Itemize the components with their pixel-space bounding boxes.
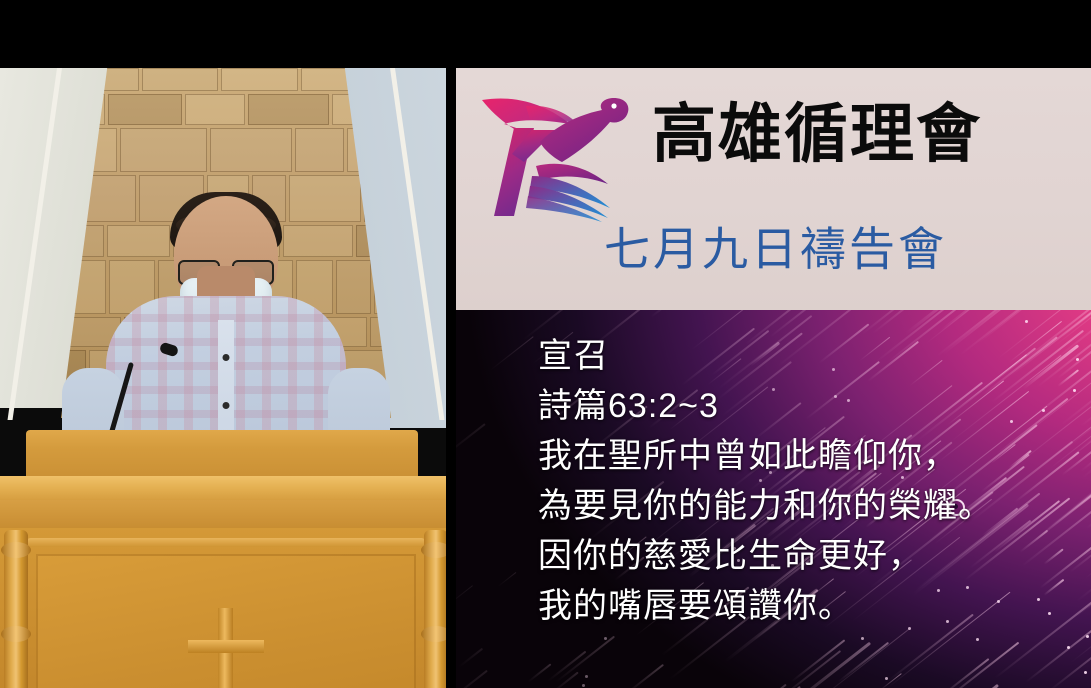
church-logo <box>474 84 644 224</box>
scripture-line-2: 為要見你的能力和你的榮耀。 <box>538 482 1038 532</box>
church-name-title: 高雄循理會 <box>652 102 982 166</box>
slide-header: 高雄循理會 七月九日禱告會 <box>456 68 1091 310</box>
event-name-subtitle: 七月九日禱告會 <box>604 226 947 272</box>
letterbox-top-bar <box>0 0 1091 68</box>
cross-icon-crossbar <box>188 640 264 653</box>
scripture-line-1: 我在聖所中曾如此瞻仰你， <box>538 432 1038 482</box>
scripture-text-block: 宣召 詩篇63:2~3 我在聖所中曾如此瞻仰你， 為要見你的能力和你的榮耀。 因… <box>538 332 1038 632</box>
pulpit-rail <box>0 500 452 530</box>
slide-section-label: 宣召 <box>538 332 1038 382</box>
video-feed-pane[interactable] <box>0 68 452 688</box>
scripture-reference: 詩篇63:2~3 <box>538 382 1038 432</box>
livestream-frame: 高雄循理會 七月九日禱告會 宣召 詩篇63:2~3 我在聖所中曾如此瞻仰你， 為… <box>0 0 1091 688</box>
scripture-line-4: 我的嘴唇要頌讚你。 <box>538 582 1038 632</box>
pulpit-column-right <box>424 530 448 688</box>
video-right-edge <box>446 68 452 688</box>
slide-body: 宣召 詩篇63:2~3 我在聖所中曾如此瞻仰你， 為要見你的能力和你的榮耀。 因… <box>456 310 1091 688</box>
scripture-line-3: 因你的慈愛比生命更好， <box>538 532 1038 582</box>
presentation-slide[interactable]: 高雄循理會 七月九日禱告會 宣召 詩篇63:2~3 我在聖所中曾如此瞻仰你， 為… <box>456 68 1091 688</box>
pulpit-book-rest <box>26 430 418 482</box>
pulpit-ledge <box>0 476 452 502</box>
pulpit-column-left <box>4 530 28 688</box>
pulpit-molding <box>26 538 426 547</box>
